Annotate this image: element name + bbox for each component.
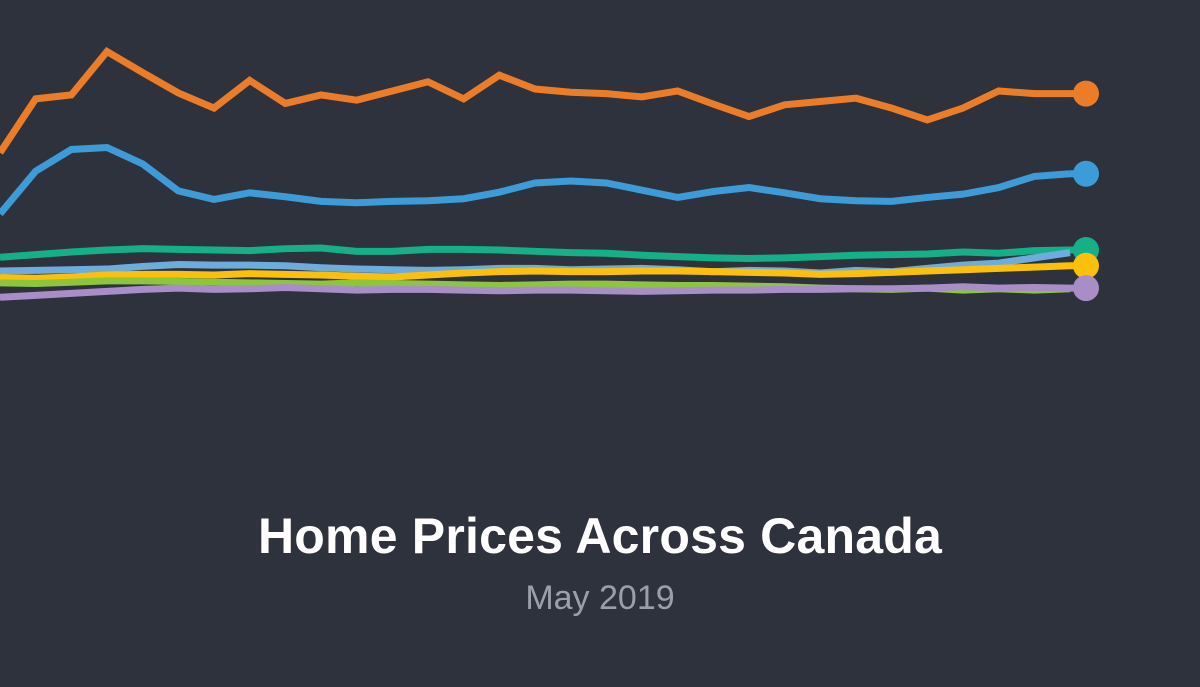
series-line [0,52,1070,153]
chart-canvas: Home Prices Across Canada May 2019 [0,0,1200,687]
series-line [0,147,1070,213]
series-end-marker [1073,81,1099,107]
page-title: Home Prices Across Canada [0,505,1200,567]
series-end-marker [1073,275,1099,301]
end-marker-layer [1073,81,1099,302]
chart-subtitle: May 2019 [0,576,1200,620]
series-end-marker [1073,253,1099,279]
series-line [0,248,1070,259]
series-layer [0,52,1086,298]
series-end-marker [1073,161,1099,187]
